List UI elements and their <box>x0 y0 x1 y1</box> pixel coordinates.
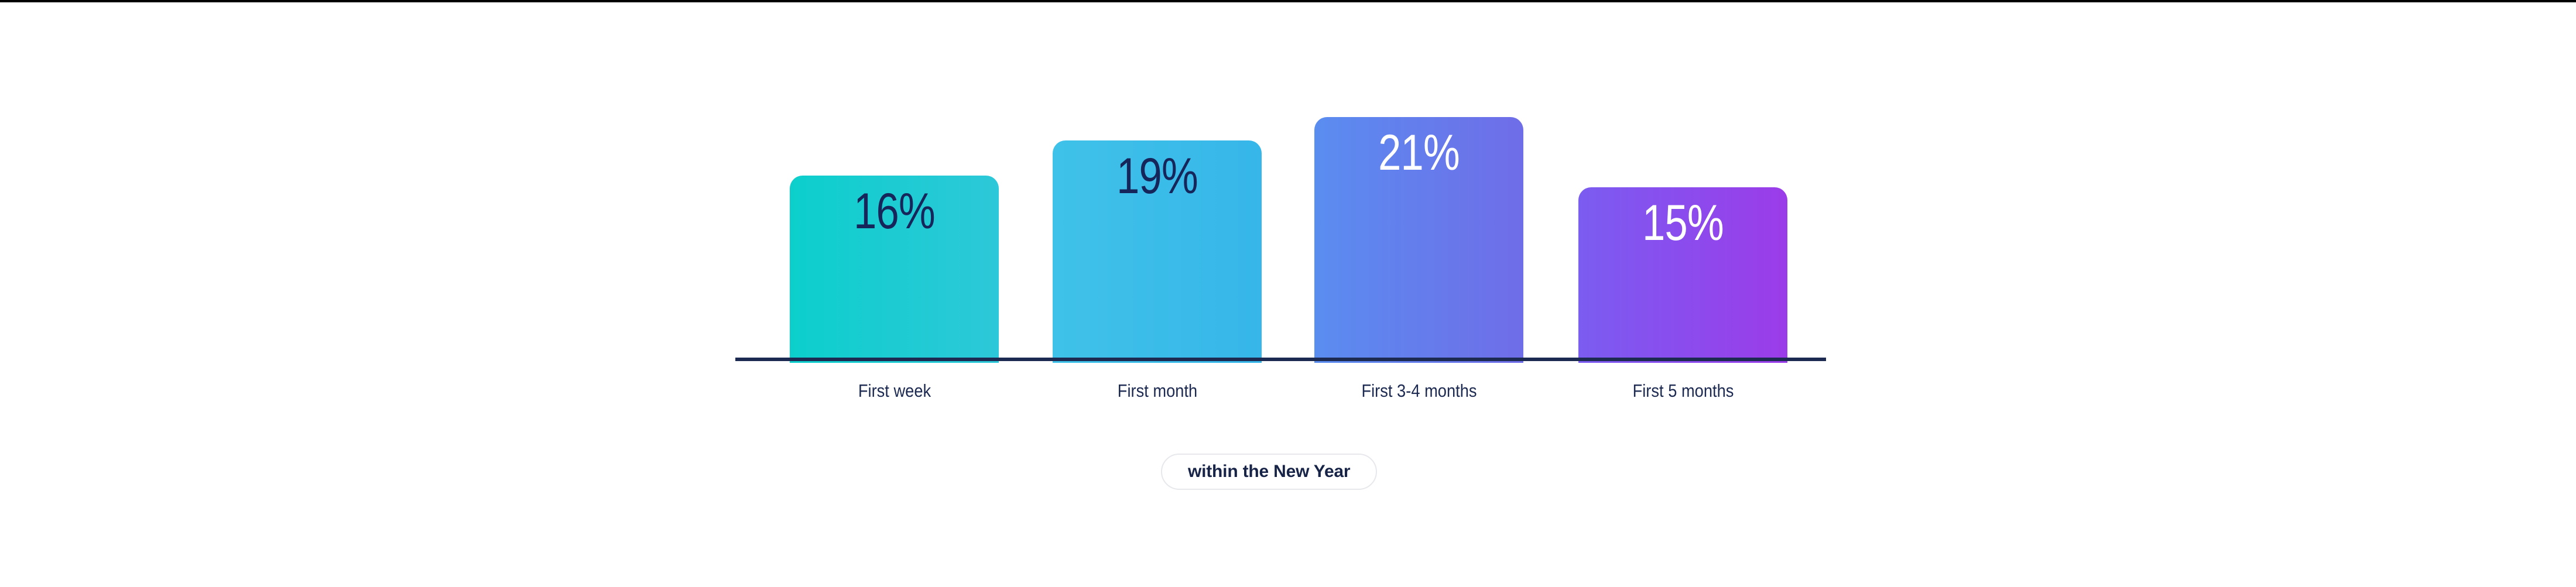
bar-group-first-week: 16% <box>790 70 999 363</box>
bar-group-first-month: 19% <box>1053 70 1262 363</box>
chart-caption-text: within the New Year <box>1188 462 1350 482</box>
bar-value-first-3-4-months: 21% <box>1333 128 1505 178</box>
bar-value-first-week: 16% <box>809 186 980 236</box>
bar-group-first-5-months: 15% <box>1578 70 1787 363</box>
x-axis-label-first-5-months: First 5 months <box>1567 379 1799 403</box>
bar-value-first-5-months: 15% <box>1597 198 1769 248</box>
chart-caption-pill[interactable]: within the New Year <box>1161 454 1377 490</box>
x-axis-baseline <box>735 358 1826 361</box>
bar-group-first-3-4-months: 21% <box>1314 70 1523 363</box>
x-axis-label-first-month: First month <box>1042 379 1273 403</box>
chart-plot-area: 16% 19% 21% 15% <box>735 70 1826 363</box>
x-axis-label-first-3-4-months: First 3-4 months <box>1303 379 1535 403</box>
x-axis-category-labels: First week First month First 3-4 months … <box>735 379 1826 406</box>
bar-chart-figure: 16% 19% 21% 15% First week First month F… <box>0 0 2576 587</box>
bar-value-first-month: 19% <box>1071 151 1243 201</box>
x-axis-label-first-week: First week <box>779 379 1010 403</box>
